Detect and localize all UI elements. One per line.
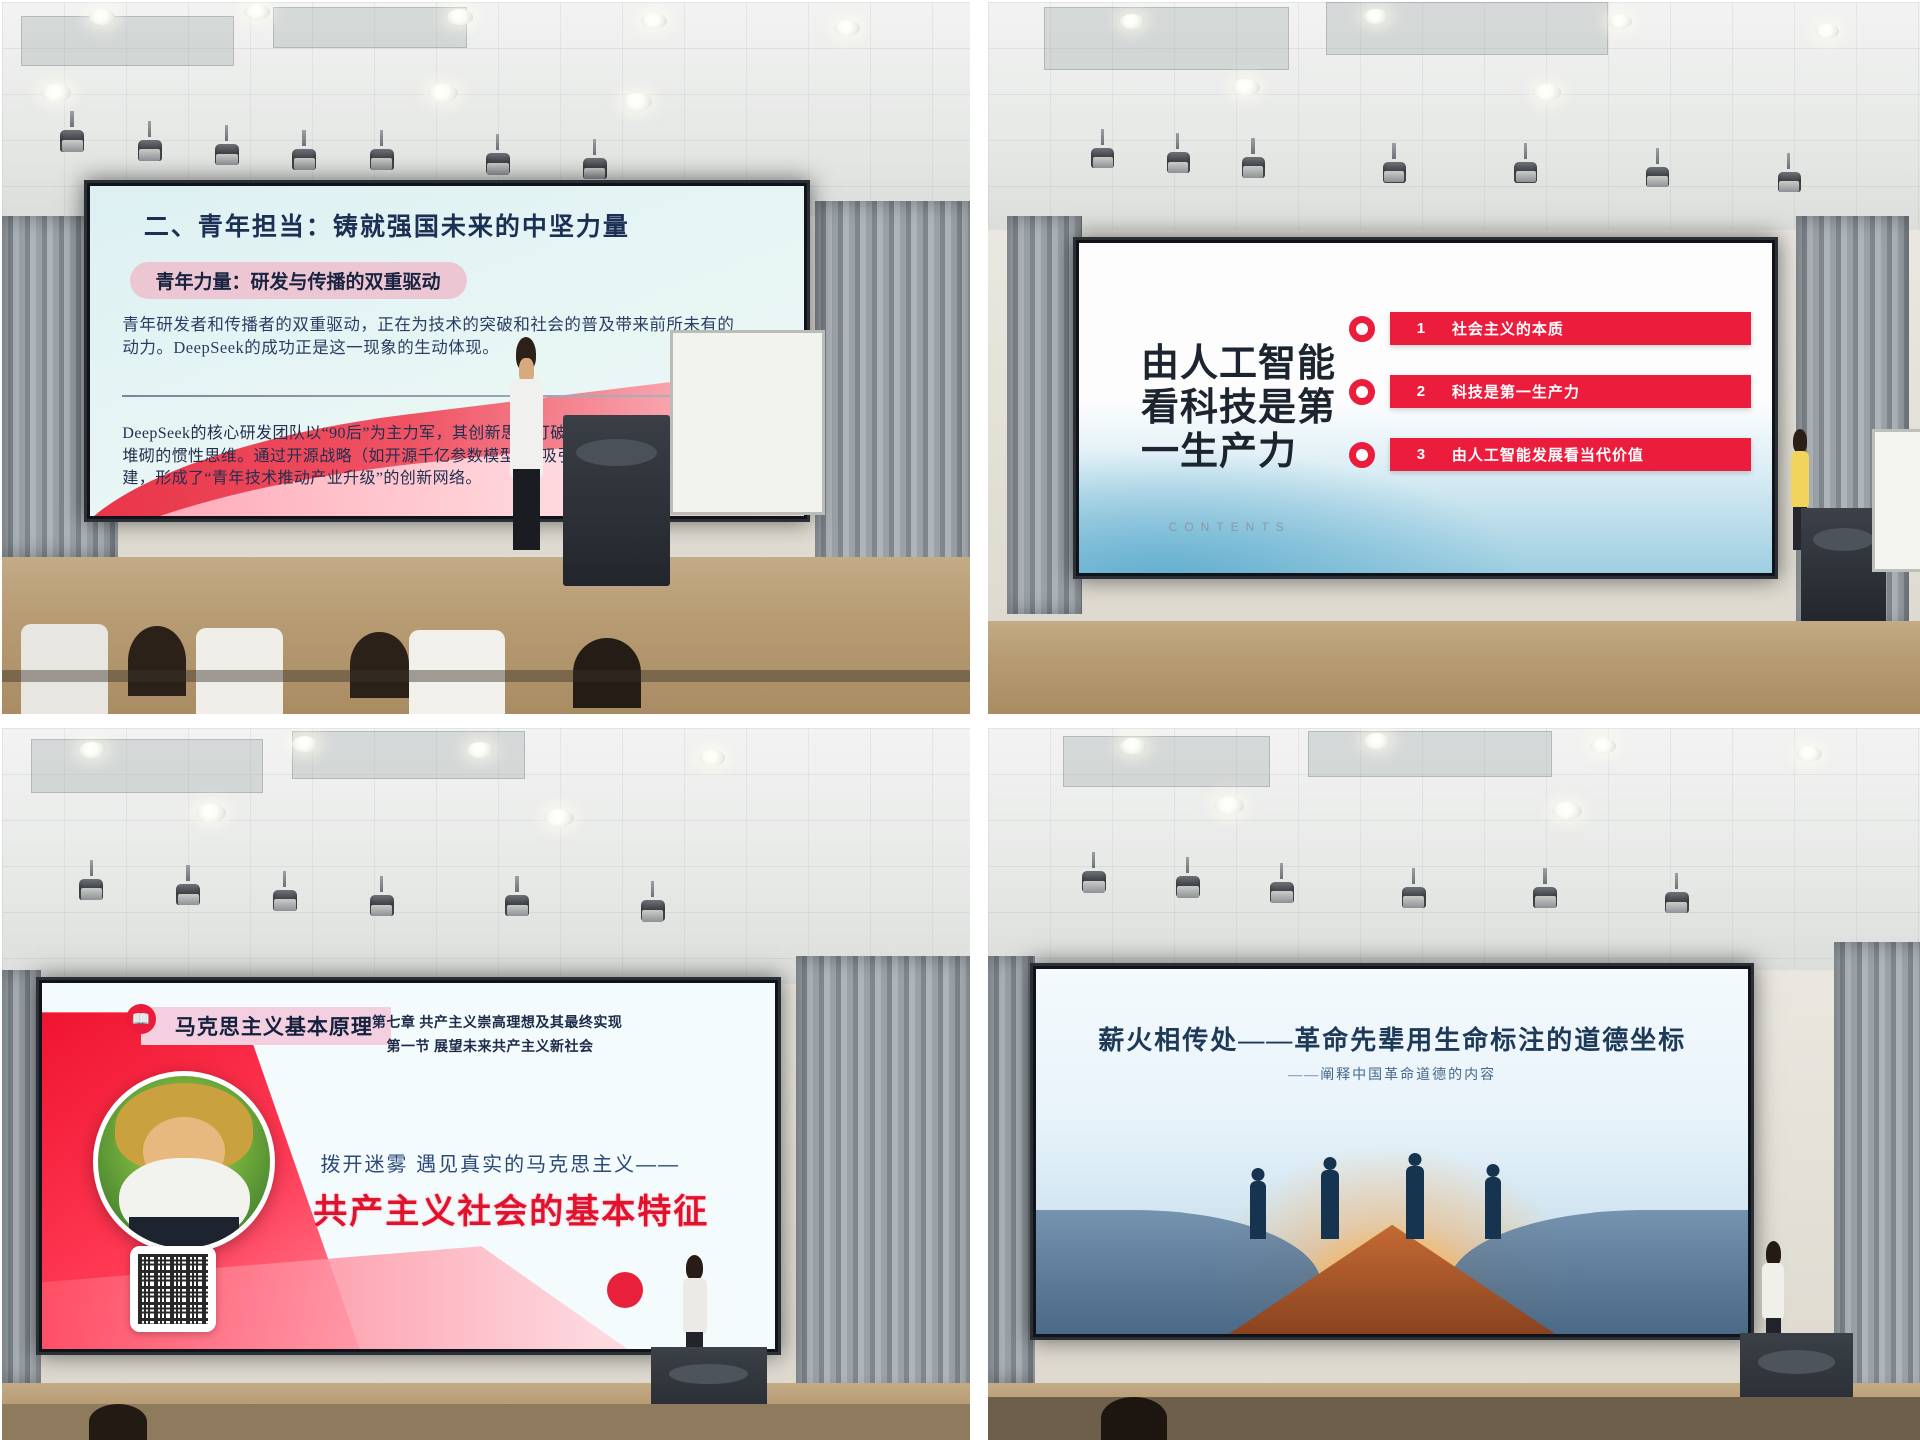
stage-spotlight (1383, 152, 1406, 185)
stage-spotlight (79, 869, 103, 903)
downlight (79, 742, 105, 758)
curtain-right (796, 956, 970, 1397)
slide-ai-contents: 由人工智能看科技是第一生产力 CONTENTS 1 社会主义的本质 (1079, 243, 1772, 573)
slide2-big-title: 由人工智能看科技是第一生产力 (1141, 342, 1336, 474)
silhouette-figure (1321, 1170, 1339, 1239)
ceiling (988, 728, 1920, 984)
chapter-line-2: 第一节 展望未来共产主义新社会 (387, 1036, 594, 1056)
whiteboard (670, 330, 825, 515)
projection-screen: 薪火相传处——革命先辈用生命标注的道德坐标 ——阐释中国革命道德的内容 (1030, 963, 1754, 1340)
stage-spotlight (1665, 882, 1689, 916)
item-label: 科技是第一生产力 (1452, 381, 1580, 402)
photo-panel-bottom-left: 马克思主义基本原理 📖 第七章 共产主义崇高理想及其最终实现 第一节 展望未来共… (2, 728, 970, 1440)
downlight (41, 84, 71, 102)
silhouette-figure (1485, 1177, 1501, 1239)
slide3-subtitle: 拨开迷雾 遇见真实的马克思主义—— (321, 1148, 681, 1177)
slide-revolution-morality: 薪火相传处——革命先辈用生命标注的道德坐标 ——阐释中国革命道德的内容 (1036, 969, 1748, 1334)
downlight (447, 9, 473, 25)
downlight (1590, 738, 1616, 754)
contents-bar: 3 由人工智能发展看当代价值 (1390, 438, 1751, 471)
list-item: 1 社会主义的本质 (1349, 312, 1751, 345)
stage-spotlight (176, 874, 200, 908)
chapter-line-1: 第七章 共产主义崇高理想及其最终实现 (372, 1012, 623, 1032)
downlight (467, 742, 493, 758)
whiteboard (1872, 429, 1920, 571)
ceiling-panel (273, 7, 467, 48)
slide4-subtitle: ——阐释中国革命道德的内容 (1036, 1064, 1748, 1084)
slide1-heading: 二、青年担当：铸就强国未来的中坚力量 (144, 207, 630, 243)
stage-spotlight (1270, 872, 1294, 906)
ceiling-panel (1044, 7, 1288, 70)
bullet-ring-icon (1349, 379, 1375, 405)
slide-marxism-principles: 马克思主义基本原理 📖 第七章 共产主义崇高理想及其最终实现 第一节 展望未来共… (42, 983, 775, 1348)
qr-code-icon (130, 1246, 216, 1332)
downlight (1214, 797, 1244, 815)
downlight (1120, 738, 1146, 754)
slide1-pill-label: 青年力量：研发与传播的双重驱动 (130, 262, 467, 299)
item-number: 3 (1390, 446, 1452, 463)
silhouette-figure (1250, 1181, 1266, 1239)
stage-spotlight (641, 890, 665, 924)
photo-panel-top-left: 二、青年担当：铸就强国未来的中坚力量 青年力量：研发与传播的双重驱动 青年研发者… (2, 2, 970, 714)
list-item: 2 科技是第一生产力 (1349, 375, 1751, 408)
bullet-ring-icon (1349, 316, 1375, 342)
ceiling-panel (1308, 731, 1552, 777)
slide1-paragraph-1: 青年研发者和传播者的双重驱动，正在为技术的突破和社会的普及带来前所未有的动力。D… (122, 313, 736, 360)
curtain-left (1007, 216, 1082, 615)
stage-spotlight (1176, 866, 1200, 900)
stage-spotlight (370, 139, 394, 173)
slide1-divider (122, 395, 743, 397)
course-title: 马克思主义基本原理 (175, 1011, 373, 1041)
course-title-banner: 马克思主义基本原理 (141, 1007, 391, 1045)
floor (988, 621, 1920, 714)
downlight (196, 804, 226, 822)
stage-spotlight (1091, 138, 1114, 171)
stage-spotlight (60, 120, 84, 154)
list-item: 3 由人工智能发展看当代价值 (1349, 438, 1751, 471)
photo-panel-bottom-right: 薪火相传处——革命先辈用生命标注的道德坐标 ——阐释中国革命道德的内容 (988, 728, 1920, 1440)
slide2-contents-label: CONTENTS (1169, 520, 1291, 534)
downlight (1815, 24, 1839, 39)
contents-bar: 1 社会主义的本质 (1390, 312, 1751, 345)
stage-spotlight (1514, 152, 1537, 185)
silhouette-figure (1406, 1166, 1424, 1239)
item-label: 由人工智能发展看当代价值 (1452, 444, 1644, 465)
downlight (89, 9, 115, 25)
stage-spotlight (1533, 877, 1557, 911)
curtain-right (815, 201, 970, 585)
stage-spotlight (1167, 142, 1190, 175)
curtain-left (988, 956, 1035, 1383)
downlight (1120, 14, 1144, 29)
downlight (622, 93, 652, 111)
foreground-row (988, 1397, 1920, 1440)
slide2-contents-list: 1 社会主义的本质 2 科技是第一生产力 3 (1349, 312, 1751, 501)
contents-bar: 2 科技是第一生产力 (1390, 375, 1751, 408)
downlight (699, 750, 725, 766)
projection-screen: 由人工智能看科技是第一生产力 CONTENTS 1 社会主义的本质 (1073, 237, 1778, 579)
stage-spotlight (505, 885, 529, 919)
curtain-right (1834, 942, 1920, 1398)
stage-spotlight (1646, 157, 1669, 190)
ceiling-panel (31, 739, 263, 793)
stage-spotlight (370, 885, 394, 919)
stage-spotlight (292, 139, 316, 173)
item-number: 2 (1390, 383, 1452, 400)
book-icon: 📖 (126, 1004, 156, 1034)
marx-portrait (93, 1071, 275, 1253)
stage-spotlight (1778, 162, 1801, 195)
ceiling (988, 2, 1920, 244)
stage-spotlight (486, 143, 510, 177)
audience-row (2, 614, 970, 714)
slide3-red-dot (607, 1272, 643, 1308)
bullet-ring-icon (1349, 442, 1375, 468)
slide4-title: 薪火相传处——革命先辈用生命标注的道德坐标 (1036, 1020, 1748, 1057)
podium (563, 415, 669, 586)
ceiling-panel (21, 16, 234, 66)
foreground-row (2, 1404, 970, 1440)
stage-spotlight (138, 130, 162, 164)
ceiling-panel (1063, 736, 1270, 787)
item-number: 1 (1390, 320, 1452, 337)
slide3-main-title: 共产主义社会的基本特征 (313, 1184, 709, 1233)
stage-spotlight (1242, 147, 1265, 180)
stage-spotlight (1082, 861, 1106, 895)
projection-screen: 马克思主义基本原理 📖 第七章 共产主义崇高理想及其最终实现 第一节 展望未来共… (36, 977, 781, 1354)
photo-collage: 二、青年担当：铸就强国未来的中坚力量 青年力量：研发与传播的双重驱动 青年研发者… (0, 0, 1920, 1440)
downlight (428, 84, 458, 102)
stage-spotlight (215, 134, 239, 168)
presenter-figure (505, 337, 547, 551)
stage-spotlight (583, 148, 607, 182)
stage-spotlight (1402, 877, 1426, 911)
stage-spotlight (273, 880, 297, 914)
item-label: 社会主义的本质 (1452, 318, 1564, 339)
photo-panel-top-right: 由人工智能看科技是第一生产力 CONTENTS 1 社会主义的本质 (988, 2, 1920, 714)
